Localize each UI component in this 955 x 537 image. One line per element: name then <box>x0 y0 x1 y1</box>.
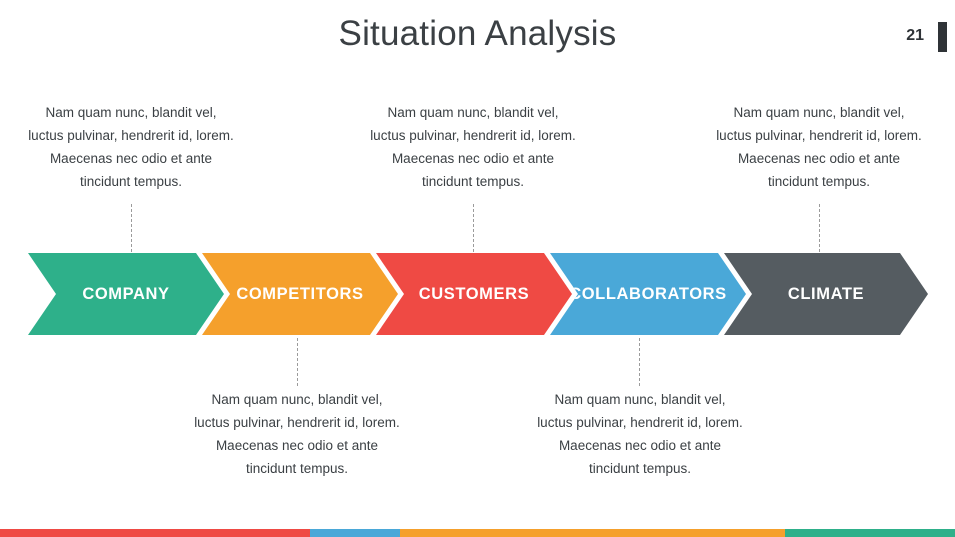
connector-company <box>131 204 132 252</box>
footer-segment-red <box>0 529 310 537</box>
chevron-step-collaborators[interactable]: COLLABORATORS <box>550 253 746 335</box>
footer-segment-green <box>785 529 955 537</box>
page-number: 21 <box>906 27 924 45</box>
page-title: Situation Analysis <box>0 14 955 54</box>
footer-color-bar <box>0 529 955 537</box>
footer-segment-amber <box>400 529 785 537</box>
chevron-process: COMPANY COMPETITORS CUSTOMERS COLLABORAT… <box>28 253 928 335</box>
chevron-step-company[interactable]: COMPANY <box>28 253 224 335</box>
chevron-label-customers: CUSTOMERS <box>419 285 530 304</box>
chevron-label-competitors: COMPETITORS <box>236 285 363 304</box>
slide: Situation Analysis 21 Nam quam nunc, bla… <box>0 0 955 537</box>
connector-climate <box>819 204 820 252</box>
note-climate: Nam quam nunc, blandit vel, luctus pulvi… <box>714 101 924 193</box>
footer-segment-blue <box>310 529 400 537</box>
chevron-label-climate: CLIMATE <box>788 285 864 304</box>
chevron-step-climate[interactable]: CLIMATE <box>724 253 928 335</box>
connector-collaborators <box>639 338 640 386</box>
connector-customers <box>473 204 474 252</box>
page-marker-bar <box>938 22 947 52</box>
chevron-label-collaborators: COLLABORATORS <box>569 285 727 304</box>
note-collaborators: Nam quam nunc, blandit vel, luctus pulvi… <box>535 388 745 480</box>
chevron-step-competitors[interactable]: COMPETITORS <box>202 253 398 335</box>
connector-competitors <box>297 338 298 386</box>
chevron-label-company: COMPANY <box>82 285 169 304</box>
note-customers: Nam quam nunc, blandit vel, luctus pulvi… <box>368 101 578 193</box>
note-competitors: Nam quam nunc, blandit vel, luctus pulvi… <box>192 388 402 480</box>
chevron-step-customers[interactable]: CUSTOMERS <box>376 253 572 335</box>
note-company: Nam quam nunc, blandit vel, luctus pulvi… <box>26 101 236 193</box>
